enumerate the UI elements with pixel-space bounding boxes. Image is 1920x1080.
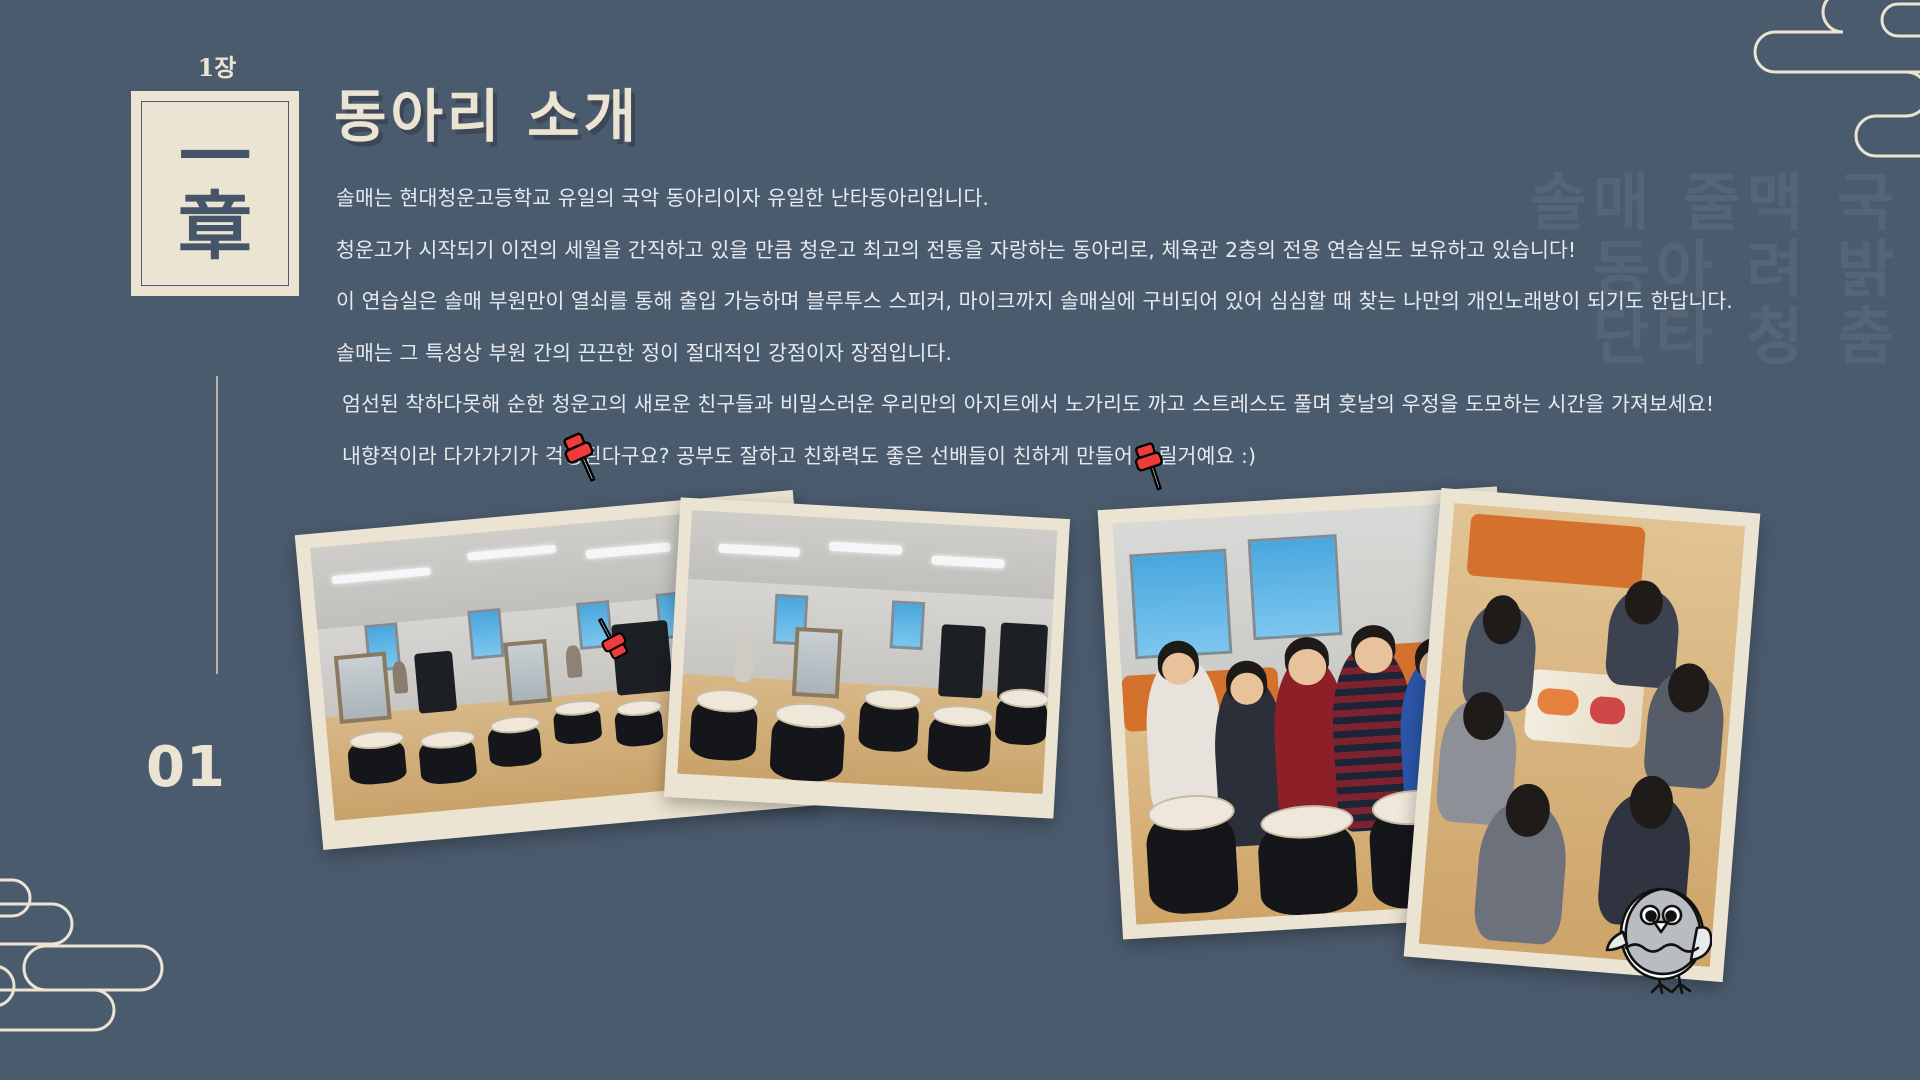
cloud-pattern-icon xyxy=(0,860,220,1080)
chapter-card: 一 章 xyxy=(131,91,299,296)
photo-practice-room-drums[interactable] xyxy=(664,497,1070,818)
body-line: 이 연습실은 솔매 부원만이 열쇠를 통해 출입 가능하며 블루투스 스피커, … xyxy=(336,291,1896,312)
chapter-marker: 1장 一 章 xyxy=(131,48,303,296)
body-line: 엄선된 착하다못해 순한 청운고의 새로운 친구들과 비밀스러운 우리만의 아지… xyxy=(336,394,1896,415)
body-text-block: 솔매는 현대청운고등학교 유일의 국악 동아리이자 유일한 난타동아리입니다. … xyxy=(336,188,1896,497)
chapter-char-chapter: 章 xyxy=(178,190,252,264)
body-line: 청운고가 시작되기 이전의 세월을 간직하고 있을 만큼 청운고 최고의 전통을… xyxy=(336,240,1896,261)
chapter-kicker-label: 1장 xyxy=(131,48,303,83)
body-line: 솔매는 그 특성상 부원 간의 끈끈한 정이 절대적인 강점이자 장점입니다. xyxy=(336,343,1896,364)
page-number: 01 xyxy=(146,735,226,800)
slide-canvas: 솔매 줄맥 국 동아 려 밝 단타 청 춤 1장 一 章 xyxy=(0,0,1920,1080)
body-line: 솔매는 현대청운고등학교 유일의 국악 동아리이자 유일한 난타동아리입니다. xyxy=(336,188,1896,209)
cloud-pattern-icon xyxy=(1680,0,1920,186)
page-title: 동아리 소개 xyxy=(334,88,640,145)
chapter-char-one: 一 xyxy=(179,130,251,184)
vertical-divider-rule xyxy=(216,376,218,674)
body-line: 내향적이라 다가가기가 걱정된다구요? 공부도 잘하고 친화력도 좋은 선배들이… xyxy=(336,446,1896,467)
photo-circle-gathering[interactable] xyxy=(1404,488,1761,982)
